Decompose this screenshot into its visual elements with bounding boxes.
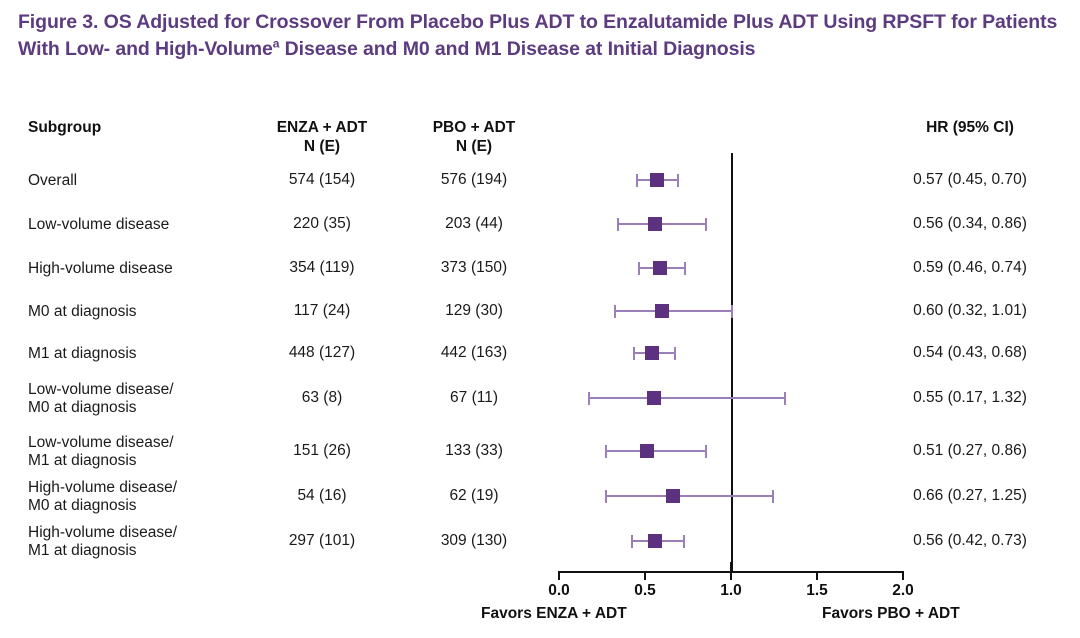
ci-cap-lower (638, 262, 640, 275)
cell-hazard-ratio: 0.57 (0.45, 0.70) (870, 171, 1070, 189)
ci-cap-upper (731, 305, 733, 318)
cell-hazard-ratio: 0.59 (0.46, 0.74) (870, 259, 1070, 277)
cell-pbo-n-events: 576 (194) (399, 171, 549, 189)
row-label-subgroup: Low-volume disease/ M1 at diagnosis (28, 434, 174, 470)
axis-label-favors-pbo: Favors PBO + ADT (822, 605, 960, 623)
cell-hazard-ratio: 0.56 (0.42, 0.73) (870, 532, 1070, 550)
forest-plot: Subgroup ENZA + ADT N (E) PBO + ADT N (E… (0, 0, 1080, 638)
row-label-subgroup: Low-volume disease (28, 216, 169, 234)
ci-cap-upper (784, 392, 786, 405)
point-estimate-marker (640, 444, 654, 458)
x-axis-tick (902, 571, 904, 580)
cell-pbo-n-events: 203 (44) (399, 215, 549, 233)
point-estimate-marker (648, 217, 662, 231)
cell-pbo-n-events: 129 (30) (399, 302, 549, 320)
column-header-subgroup: Subgroup (28, 118, 101, 137)
cell-hazard-ratio: 0.56 (0.34, 0.86) (870, 215, 1070, 233)
cell-hazard-ratio: 0.55 (0.17, 1.32) (870, 389, 1070, 407)
x-axis-tick-label: 0.0 (529, 582, 589, 600)
row-label-subgroup: M0 at diagnosis (28, 303, 137, 321)
row-label-subgroup: High-volume disease (28, 260, 173, 278)
ci-cap-lower (605, 490, 607, 503)
point-estimate-marker (650, 173, 664, 187)
cell-enza-n-events: 354 (119) (247, 259, 397, 277)
confidence-interval-line (588, 397, 786, 399)
point-estimate-marker (647, 391, 661, 405)
ci-cap-upper (684, 262, 686, 275)
ci-cap-lower (631, 535, 633, 548)
point-estimate-marker (653, 261, 667, 275)
ci-cap-upper (705, 218, 707, 231)
ci-cap-lower (614, 305, 616, 318)
cell-pbo-n-events: 373 (150) (399, 259, 549, 277)
cell-enza-n-events: 220 (35) (247, 215, 397, 233)
cell-enza-n-events: 54 (16) (247, 487, 397, 505)
row-label-subgroup: Low-volume disease/ M0 at diagnosis (28, 381, 174, 417)
row-label-subgroup: Overall (28, 172, 77, 190)
cell-enza-n-events: 63 (8) (247, 389, 397, 407)
row-label-subgroup: High-volume disease/ M1 at diagnosis (28, 524, 177, 560)
ci-cap-lower (636, 174, 638, 187)
cell-enza-n-events: 151 (26) (247, 442, 397, 460)
column-header-pbo-adt: PBO + ADT N (E) (404, 118, 544, 156)
x-axis-tick-label: 1.5 (787, 582, 847, 600)
confidence-interval-line (614, 310, 733, 312)
cell-enza-n-events: 297 (101) (247, 532, 397, 550)
point-estimate-marker (645, 346, 659, 360)
ci-cap-upper (674, 347, 676, 360)
cell-enza-n-events: 574 (154) (247, 171, 397, 189)
cell-pbo-n-events: 133 (33) (399, 442, 549, 460)
ci-cap-lower (605, 445, 607, 458)
point-estimate-marker (655, 304, 669, 318)
cell-pbo-n-events: 309 (130) (399, 532, 549, 550)
point-estimate-marker (666, 489, 680, 503)
cell-hazard-ratio: 0.66 (0.27, 1.25) (870, 487, 1070, 505)
reference-line-hr-1 (731, 153, 733, 573)
ci-cap-upper (705, 445, 707, 458)
row-label-subgroup: M1 at diagnosis (28, 345, 137, 363)
axis-label-favors-enza: Favors ENZA + ADT (481, 605, 627, 623)
ci-cap-upper (677, 174, 679, 187)
ci-cap-lower (633, 347, 635, 360)
ci-cap-upper (772, 490, 774, 503)
ci-cap-lower (617, 218, 619, 231)
cell-enza-n-events: 117 (24) (247, 302, 397, 320)
confidence-interval-line (605, 495, 774, 497)
cell-hazard-ratio: 0.51 (0.27, 0.86) (870, 442, 1070, 460)
cell-hazard-ratio: 0.60 (0.32, 1.01) (870, 302, 1070, 320)
x-axis-tick (730, 562, 732, 580)
x-axis-tick-label: 0.5 (615, 582, 675, 600)
point-estimate-marker (648, 534, 662, 548)
column-header-hr-ci: HR (95% CI) (880, 118, 1060, 137)
column-header-enza-adt: ENZA + ADT N (E) (252, 118, 392, 156)
x-axis-tick (558, 571, 560, 580)
cell-enza-n-events: 448 (127) (247, 344, 397, 362)
confidence-interval-line (605, 450, 706, 452)
x-axis-tick (644, 571, 646, 580)
ci-cap-lower (588, 392, 590, 405)
x-axis-tick (816, 571, 818, 580)
x-axis-tick-label: 1.0 (701, 582, 761, 600)
row-label-subgroup: High-volume disease/ M0 at diagnosis (28, 479, 177, 515)
cell-pbo-n-events: 442 (163) (399, 344, 549, 362)
cell-pbo-n-events: 62 (19) (399, 487, 549, 505)
ci-cap-upper (683, 535, 685, 548)
x-axis-tick-label: 2.0 (873, 582, 933, 600)
cell-pbo-n-events: 67 (11) (399, 389, 549, 407)
cell-hazard-ratio: 0.54 (0.43, 0.68) (870, 344, 1070, 362)
